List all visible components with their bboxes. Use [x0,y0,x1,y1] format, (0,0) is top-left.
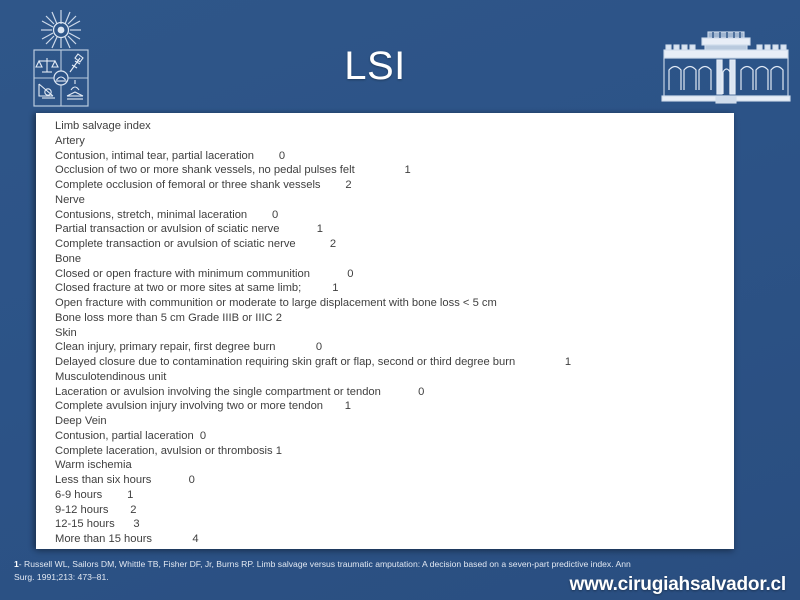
content-line: Bone loss more than 5 cm Grade IIIB or I… [55,311,724,326]
content-line: Complete avulsion injury involving two o… [55,399,724,414]
content-line: Closed fracture at two or more sites at … [55,281,724,296]
content-line: Nerve [55,193,724,208]
content-panel: Limb salvage index Artery Contusion, int… [36,113,734,549]
content-line: Less than six hours 0 [55,473,724,488]
content-line: Complete laceration, avulsion or thrombo… [55,444,724,459]
hospital-building-icon [660,28,792,110]
content-line: Laceration or avulsion involving the sin… [55,385,724,400]
content-line: Limb salvage index [55,119,724,134]
content-lines: Limb salvage index Artery Contusion, int… [36,113,734,551]
presentation-slide: LSI Limb salvage index Artery Contusion,… [0,0,800,600]
content-line: Contusion, intimal tear, partial lacerat… [55,149,724,164]
footnote-text: - Russell WL, Sailors DM, Whittle TB, Fi… [14,559,631,582]
footnote-citation: 1- Russell WL, Sailors DM, Whittle TB, F… [14,558,634,583]
content-line: Complete occlusion of femoral or three s… [55,178,724,193]
content-line: Bone [55,252,724,267]
content-line: Musculotendinous unit [55,370,724,385]
content-line: Skin [55,326,724,341]
content-line: Partial transaction or avulsion of sciat… [55,222,724,237]
content-line: Clean injury, primary repair, first degr… [55,340,724,355]
university-coat-of-arms-icon [22,8,100,112]
slide-title: LSI [110,44,640,88]
content-line: Closed or open fracture with minimum com… [55,267,724,282]
website-url: www.cirugiahsalvador.cl [570,574,786,596]
content-line: Contusions, stretch, minimal laceration … [55,208,724,223]
content-line: More than 15 hours 4 [55,532,724,547]
content-line: Warm ischemia [55,458,724,473]
content-line: Contusion, partial laceration 0 [55,429,724,444]
content-line: 9-12 hours 2 [55,503,724,518]
content-line: Artery [55,134,724,149]
content-line: Complete transaction or avulsion of scia… [55,237,724,252]
content-line: 6-9 hours 1 [55,488,724,503]
content-line: Open fracture with communition or modera… [55,296,724,311]
content-line: Deep Vein [55,414,724,429]
content-line: 12-15 hours 3 [55,517,724,532]
content-line: Occlusion of two or more shank vessels, … [55,163,724,178]
content-line: Delayed closure due to contamination req… [55,355,724,370]
